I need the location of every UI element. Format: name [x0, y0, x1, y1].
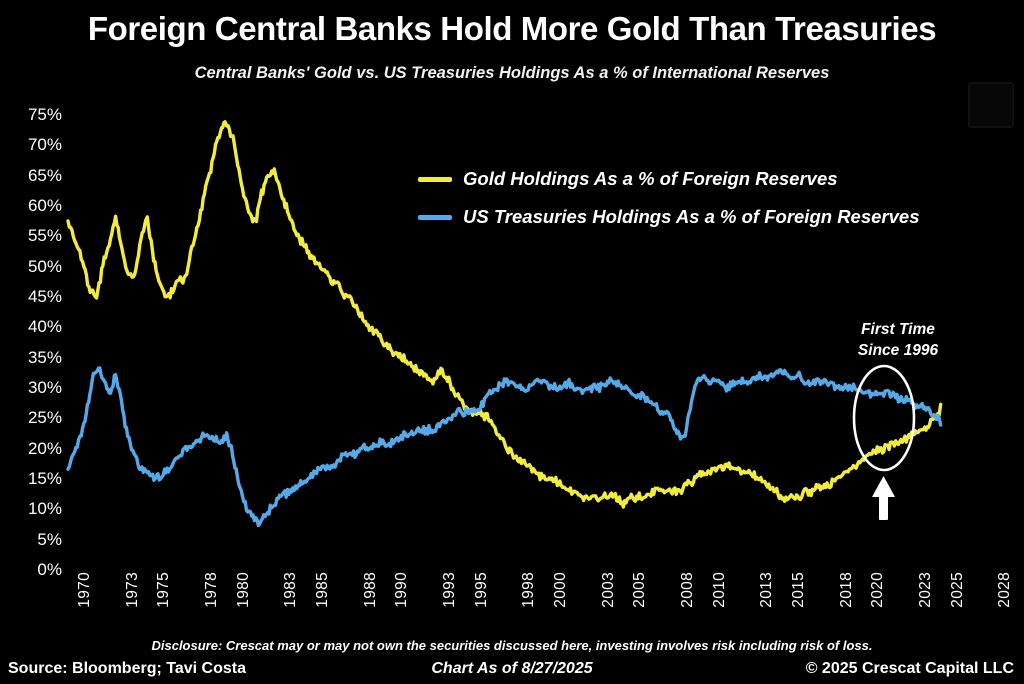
x-tick-label: 1980 — [235, 572, 253, 608]
x-tick-label: 1975 — [155, 572, 173, 608]
x-tick-label: 2028 — [996, 572, 1014, 608]
x-tick-label: 2023 — [917, 572, 935, 608]
x-tick-label: 2020 — [869, 572, 887, 608]
y-tick-label: 60% — [28, 196, 62, 216]
legend-item-gold: Gold Holdings As a % of Foreign Reserves — [418, 160, 958, 198]
x-tick-label: 1973 — [124, 572, 142, 608]
annotation-line-2: Since 1996 — [838, 341, 958, 362]
y-tick-label: 50% — [28, 257, 62, 277]
x-tick-label: 2000 — [552, 572, 570, 608]
legend-swatch-treasuries-icon — [418, 215, 452, 220]
chart-subtitle: Central Banks' Gold vs. US Treasuries Ho… — [0, 64, 1024, 83]
x-tick-label: 1970 — [76, 572, 94, 608]
legend-label-gold: Gold Holdings As a % of Foreign Reserves — [463, 168, 838, 190]
disclosure-text: Disclosure: Crescat may or may not own t… — [0, 638, 1024, 653]
y-tick-label: 55% — [28, 226, 62, 246]
y-tick-label: 20% — [28, 439, 62, 459]
legend-label-us-treasuries: US Treasuries Holdings As a % of Foreign… — [463, 206, 919, 228]
y-tick-label: 15% — [28, 469, 62, 489]
x-tick-label: 2010 — [711, 572, 729, 608]
y-tick-label: 75% — [28, 105, 62, 125]
y-tick-label: 10% — [28, 499, 62, 519]
legend-item-us-treasuries: US Treasuries Holdings As a % of Foreign… — [418, 198, 958, 236]
annotation-text: First Time Since 1996 — [838, 320, 958, 362]
x-axis-labels: 1970197319751978198019831985198819901993… — [0, 572, 1024, 632]
y-tick-label: 40% — [28, 317, 62, 337]
chart-container: Foreign Central Banks Hold More Gold Tha… — [0, 0, 1024, 684]
y-tick-label: 65% — [28, 166, 62, 186]
y-tick-label: 35% — [28, 348, 62, 368]
chart-legend: Gold Holdings As a % of Foreign Reserves… — [418, 160, 958, 236]
y-tick-label: 70% — [28, 135, 62, 155]
chart-title: Foreign Central Banks Hold More Gold Tha… — [0, 10, 1024, 48]
x-tick-label: 2005 — [631, 572, 649, 608]
y-tick-label: 30% — [28, 378, 62, 398]
x-tick-label: 1993 — [441, 572, 459, 608]
y-tick-label: 25% — [28, 408, 62, 428]
y-tick-label: 5% — [37, 530, 62, 550]
x-tick-label: 1998 — [520, 572, 538, 608]
x-tick-label: 2003 — [600, 572, 618, 608]
x-tick-label: 2008 — [679, 572, 697, 608]
x-tick-label: 1990 — [393, 572, 411, 608]
annotation-line-1: First Time — [838, 320, 958, 341]
y-axis-labels: 0%5%10%15%20%25%30%35%40%45%50%55%60%65%… — [0, 115, 62, 570]
copyright-text: © 2025 Crescat Capital LLC — [806, 660, 1014, 678]
x-tick-label: 2013 — [758, 572, 776, 608]
x-tick-label: 1978 — [203, 572, 221, 608]
x-tick-label: 1983 — [282, 572, 300, 608]
x-tick-label: 1985 — [314, 572, 332, 608]
x-tick-label: 2018 — [838, 572, 856, 608]
x-tick-label: 1988 — [362, 572, 380, 608]
x-tick-label: 1995 — [473, 572, 491, 608]
x-tick-label: 2015 — [790, 572, 808, 608]
y-tick-label: 45% — [28, 287, 62, 307]
legend-swatch-gold-icon — [418, 177, 452, 182]
x-tick-label: 2025 — [949, 572, 967, 608]
